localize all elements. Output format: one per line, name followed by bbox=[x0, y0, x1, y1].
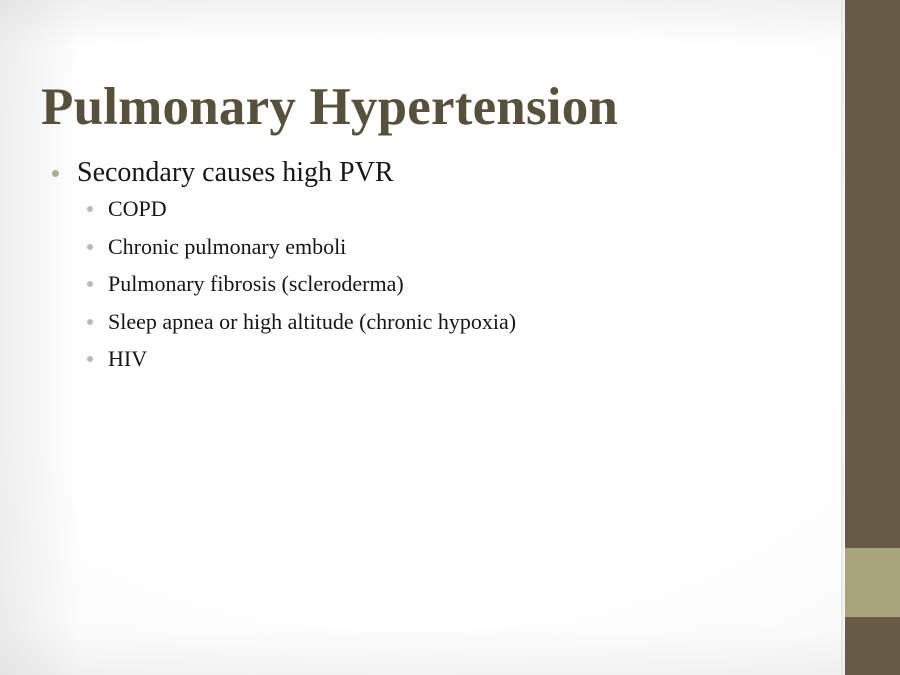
slide-body: Secondary causes high PVR COPD Chronic p… bbox=[43, 155, 823, 381]
bullet-dot-icon bbox=[87, 281, 93, 287]
bullet-text: HIV bbox=[108, 343, 823, 374]
bullet-item-hiv: HIV bbox=[80, 343, 823, 374]
bullet-text: Chronic pulmonary emboli bbox=[108, 231, 823, 262]
bullet-text: Secondary causes high PVR bbox=[77, 155, 823, 191]
presentation-slide: Pulmonary Hypertension Secondary causes … bbox=[0, 0, 900, 675]
bullet-dot-icon bbox=[52, 170, 59, 177]
bullet-dot-icon bbox=[87, 319, 93, 325]
slide-content: Pulmonary Hypertension Secondary causes … bbox=[0, 0, 900, 675]
bullet-dot-icon bbox=[87, 206, 93, 212]
bullet-list-level-1: Secondary causes high PVR COPD Chronic p… bbox=[43, 155, 823, 374]
bullet-text: Sleep apnea or high altitude (chronic hy… bbox=[108, 306, 823, 337]
bullet-dot-icon bbox=[87, 244, 93, 250]
slide-title: Pulmonary Hypertension bbox=[41, 80, 618, 136]
bullet-item-secondary-causes: Secondary causes high PVR COPD Chronic p… bbox=[43, 155, 823, 374]
bullet-item-chronic-pulmonary-emboli: Chronic pulmonary emboli bbox=[80, 231, 823, 262]
bullet-item-pulmonary-fibrosis: Pulmonary fibrosis (scleroderma) bbox=[80, 268, 823, 299]
bullet-item-copd: COPD bbox=[80, 193, 823, 224]
bullet-list-level-2: COPD Chronic pulmonary emboli Pulmonary … bbox=[77, 193, 823, 374]
bullet-text: Pulmonary fibrosis (scleroderma) bbox=[108, 268, 823, 299]
bullet-text: COPD bbox=[108, 193, 823, 224]
bullet-item-sleep-apnea-high-altitude: Sleep apnea or high altitude (chronic hy… bbox=[80, 306, 823, 337]
bullet-dot-icon bbox=[87, 356, 93, 362]
